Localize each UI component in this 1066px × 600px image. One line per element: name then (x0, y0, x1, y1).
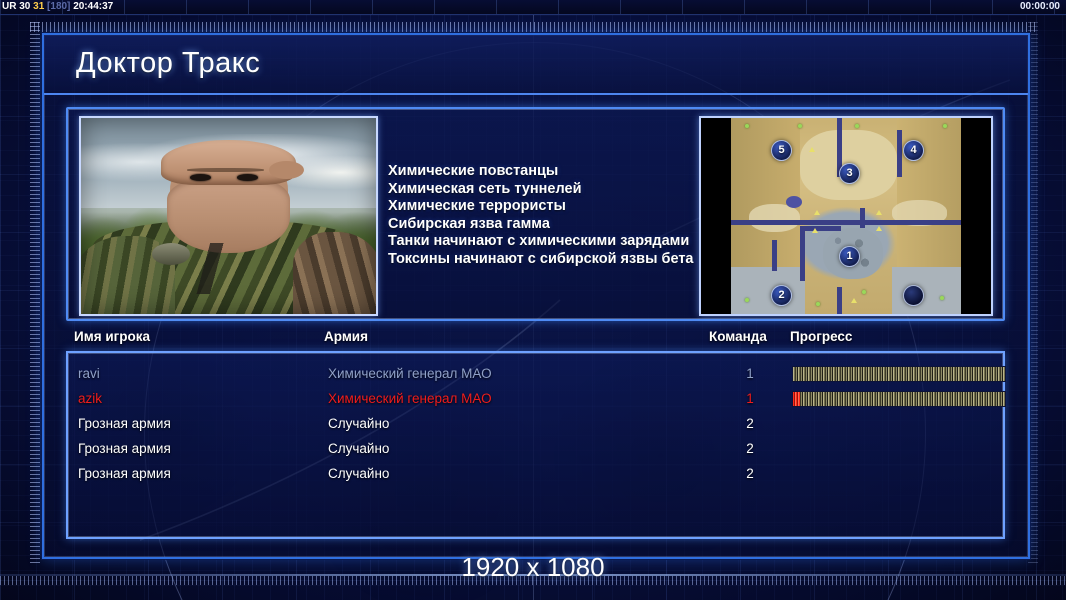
player-progress-bar (792, 391, 1006, 407)
game-clock: 00:00:00 (1020, 1, 1060, 13)
map-marker (809, 147, 815, 152)
map-road (772, 240, 777, 271)
map-start-position-empty (903, 285, 924, 306)
player-team: 2 (740, 411, 760, 436)
player-team: 1 (740, 386, 760, 411)
map-resource-dot (855, 124, 859, 128)
player-name: Грозная армия (78, 411, 171, 436)
minimap-frame: 5 4 3 1 2 (699, 116, 993, 316)
map-marker (812, 228, 818, 233)
mission-description: Химические повстанцы Химическая сеть тун… (388, 163, 728, 269)
map-road (897, 130, 902, 177)
player-name: azik (78, 386, 102, 411)
column-header-army: Армия (324, 329, 368, 344)
map-resource-dot (943, 124, 947, 128)
player-name: Грозная армия (78, 436, 171, 461)
progress-fill (793, 392, 1005, 406)
map-start-position: 5 (771, 140, 792, 161)
map-road (731, 220, 961, 225)
table-row[interactable]: Грозная армия Случайно 2 (68, 436, 1003, 461)
map-road (800, 226, 805, 281)
window-titlebar: Доктор Тракс (44, 35, 1028, 95)
map-start-position: 3 (839, 163, 860, 184)
player-progress-bar (792, 366, 1006, 382)
top-bar-ticks (0, 0, 1066, 14)
player-table-header: Имя игрока Армия Команда Прогресс (66, 329, 1001, 351)
description-line: Токсины начинают с сибирской язвы бета (388, 251, 728, 269)
ruler-left (30, 22, 40, 566)
page-title: Доктор Тракс (76, 47, 260, 80)
column-header-name: Имя игрока (74, 329, 150, 344)
map-start-position: 2 (771, 285, 792, 306)
map-start-position: 4 (903, 140, 924, 161)
player-army: Случайно (328, 411, 389, 436)
map-resource-dot (816, 302, 820, 306)
portrait-vignette (81, 118, 376, 314)
top-status-bar: UR 30 31 [180] 20:44:37 00:00:00 (0, 0, 1066, 15)
ur-value-2: 31 (33, 1, 44, 12)
description-line: Химические террористы (388, 198, 728, 216)
fps-stats-readout: UR 30 31 [180] 20:44:37 (2, 1, 113, 13)
player-army: Химический генерал МАО (328, 361, 492, 386)
table-row[interactable]: Грозная армия Случайно 2 (68, 461, 1003, 486)
game-screen: UR 30 31 [180] 20:44:37 00:00:00 Доктор … (0, 0, 1066, 600)
player-army: Химический генерал МАО (328, 386, 492, 411)
map-marker (814, 210, 820, 215)
player-team: 1 (740, 361, 760, 386)
map-marker (876, 226, 882, 231)
resolution-label: 1920 x 1080 (0, 552, 1066, 583)
ur-prefix: UR (2, 1, 16, 12)
player-team: 2 (740, 436, 760, 461)
mission-info-panel: Химические повстанцы Химическая сеть тун… (66, 107, 1005, 321)
loading-screen-window: Доктор Тракс Химич (42, 33, 1030, 559)
table-row[interactable]: ravi Химический генерал МАО 1 (68, 361, 1003, 386)
player-name: Грозная армия (78, 461, 171, 486)
description-line: Сибирская язва гамма (388, 216, 728, 234)
player-name: ravi (78, 361, 100, 386)
ur-timecode: 20:44:37 (73, 1, 113, 12)
map-marker (876, 210, 882, 215)
map-road (800, 226, 841, 231)
description-line: Химические повстанцы (388, 163, 728, 181)
player-army: Случайно (328, 461, 389, 486)
ur-value-1: 30 (19, 1, 30, 12)
ruler-top (30, 22, 1036, 32)
table-row[interactable]: azik Химический генерал МАО 1 (68, 386, 1003, 411)
table-row[interactable]: Грозная армия Случайно 2 (68, 411, 1003, 436)
map-sand-patch (749, 204, 800, 231)
map-resource-dot (798, 124, 802, 128)
map-start-position: 1 (839, 246, 860, 267)
description-line: Танки начинают с химическими зарядами (388, 233, 728, 251)
map-resource-dot (745, 124, 749, 128)
map-road (837, 287, 842, 314)
progress-fill (793, 367, 1005, 381)
map-urban-zone (892, 267, 961, 314)
description-line: Химическая сеть туннелей (388, 181, 728, 199)
map-marker (851, 298, 857, 303)
player-team: 2 (740, 461, 760, 486)
map-urban-zone (731, 267, 805, 314)
player-table: ravi Химический генерал МАО 1 azik Химич… (66, 351, 1005, 539)
progress-local-marker (793, 392, 800, 406)
column-header-team: Команда (709, 329, 767, 344)
minimap: 5 4 3 1 2 (731, 118, 961, 314)
player-army: Случайно (328, 436, 389, 461)
commander-portrait (79, 116, 378, 316)
map-resource-dot (862, 290, 866, 294)
map-road (860, 208, 865, 228)
column-header-progress: Прогресс (790, 329, 852, 344)
ur-bracket: [180] (47, 1, 70, 12)
